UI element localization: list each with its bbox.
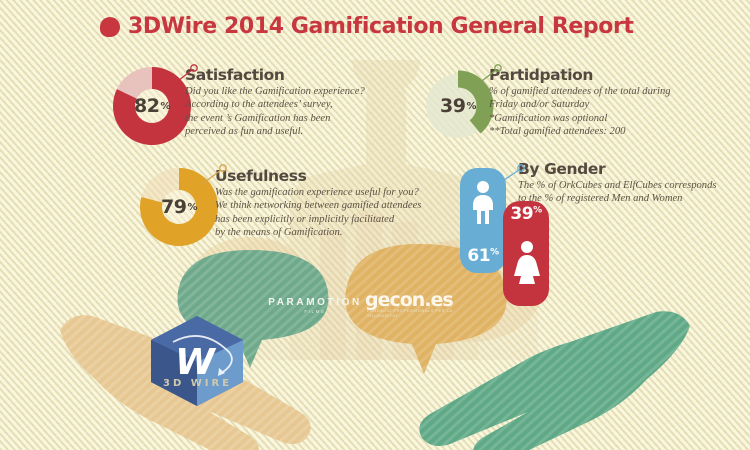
usefulness-connector-icon <box>197 161 241 189</box>
paramotion-logo-name: PARAMOTION <box>265 297 365 308</box>
participation-body-line-3: *Gamification was optional <box>489 112 671 125</box>
usefulness-text-block: Usefulness Was the gamification experien… <box>215 167 421 240</box>
satisfaction-text-block: Satisfaction Did you like the Gamificati… <box>185 66 365 139</box>
usefulness-body-line-2: We think networking between gamified att… <box>215 199 421 212</box>
gender-body-line-2: to the % of registered Men and Women <box>518 192 717 205</box>
satisfaction-body-line-2: According to the attendees’ survey, <box>185 98 365 111</box>
red-circle-bullet-icon <box>100 17 120 37</box>
usefulness-body-line-1: Was the gamification experience useful f… <box>215 186 421 199</box>
stat-by-gender: 61% 39% By Gender The % of OrkCubes and … <box>455 168 750 298</box>
3dwire-cube-logo-icon: W <box>145 312 250 407</box>
participation-body-line-4: **Total gamified attendees: 200 <box>489 125 671 138</box>
3dwire-logo-caption: 3D WIRE <box>140 378 255 389</box>
usefulness-body-line-4: by the means of Gamification. <box>215 226 421 239</box>
gender-text-block: By Gender The % of OrkCubes and ElfCubes… <box>518 160 717 206</box>
usefulness-heading: Usefulness <box>215 167 421 185</box>
satisfaction-body-line-4: perceived as fun and useful. <box>185 125 365 138</box>
participation-body-line-1: % of gamified attendees of the total dur… <box>489 85 671 98</box>
female-percentage: 39% <box>503 204 549 224</box>
satisfaction-body-line-3: the event ’s Gamification has been <box>185 112 365 125</box>
participation-body-line-2: Friday and/or Saturday <box>489 98 671 111</box>
gender-connector-icon <box>495 160 535 186</box>
satisfaction-body-line-1: Did you like the Gamification experience… <box>185 85 365 98</box>
participation-heading: Partidpation <box>489 66 671 84</box>
participation-connector-icon <box>474 62 514 88</box>
gender-body-line-1: The % of OrkCubes and ElfCubes correspon… <box>518 179 717 192</box>
gender-heading: By Gender <box>518 160 717 178</box>
satisfaction-connector-icon <box>170 62 210 88</box>
satisfaction-heading: Satisfaction <box>185 66 365 84</box>
male-figure-icon <box>468 180 498 226</box>
male-percentage: 61% <box>460 246 506 266</box>
page-title: 3DWire 2014 Gamification General Report <box>100 14 634 39</box>
page-title-text: 3DWire 2014 Gamification General Report <box>128 14 634 39</box>
usefulness-body-line-3: has been explicitly or implicitly facili… <box>215 213 421 226</box>
participation-text-block: Partidpation % of gamified attendees of … <box>489 66 671 139</box>
svg-text:W: W <box>175 342 217 383</box>
female-figure-icon <box>512 240 542 286</box>
gecon-logo-subtitle: FUNDACIO PROFESSIONALS PER LA SOLIDARITA… <box>367 308 477 318</box>
paramotion-logo-subtitle: FILMS <box>265 309 365 314</box>
